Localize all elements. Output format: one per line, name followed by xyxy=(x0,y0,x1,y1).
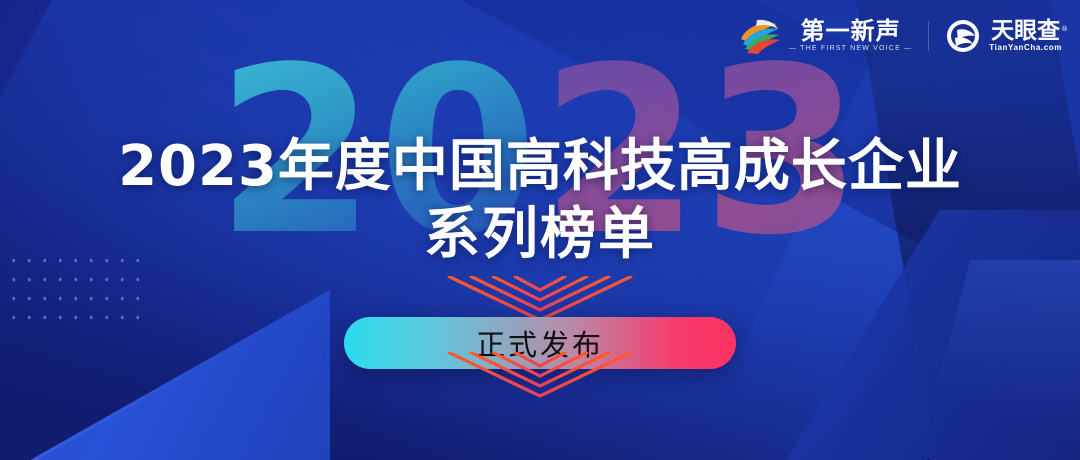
diyixinsheng-cn-text: 第一新声 xyxy=(801,18,901,44)
publish-cta-label: 正式发布 xyxy=(476,322,604,364)
promo-banner: 20 23 2023年度中国高科技高成长企业 系列榜单 xyxy=(0,0,1080,460)
tianyancha-mark-icon xyxy=(945,18,981,54)
diyixinsheng-en-text: — THE FIRST NEW VOICE — xyxy=(789,44,912,54)
page-title: 2023年度中国高科技高成长企业 系列榜单 xyxy=(0,136,1080,266)
diyixinsheng-wordmark: 第一新声 — THE FIRST NEW VOICE — xyxy=(789,18,912,54)
tianyancha-cn-text: 天眼查 ® xyxy=(991,19,1060,43)
brand-logos: 第一新声 — THE FIRST NEW VOICE — 天眼查 ® TianY… xyxy=(737,12,1062,60)
diyixinsheng-mark-icon xyxy=(737,17,781,55)
logo-diyixinsheng[interactable]: 第一新声 — THE FIRST NEW VOICE — xyxy=(737,17,912,55)
page-title-line-2: 系列榜单 xyxy=(0,204,1080,266)
tianyancha-cn-label: 天眼查 xyxy=(991,18,1060,44)
logo-divider xyxy=(928,21,929,51)
tianyancha-wordmark: 天眼查 ® TianYanCha.com xyxy=(989,19,1062,53)
tianyancha-en-text: TianYanCha.com xyxy=(989,43,1062,53)
publish-cta-button[interactable]: 正式发布 xyxy=(344,317,736,369)
logo-tianyancha[interactable]: 天眼查 ® TianYanCha.com xyxy=(945,18,1062,54)
page-title-line-1: 2023年度中国高科技高成长企业 xyxy=(0,136,1080,198)
trademark-icon: ® xyxy=(1061,17,1068,41)
